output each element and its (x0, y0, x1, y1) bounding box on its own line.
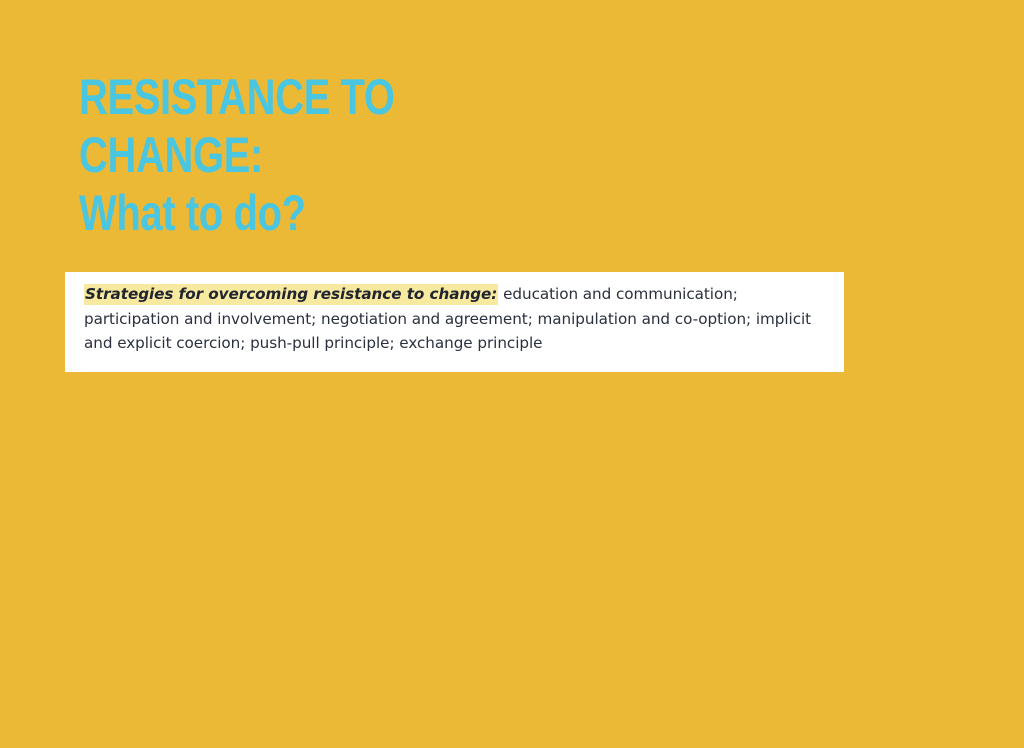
page-title-line-1: RESISTANCE TO (79, 68, 495, 126)
page-title-line-2: CHANGE: (79, 126, 495, 184)
slide-canvas: RESISTANCE TO CHANGE: What to do? Strate… (0, 0, 1024, 748)
excerpt-card: Strategies for overcoming resistance to … (65, 272, 844, 372)
highlighted-lead-text: Strategies for overcoming resistance to … (84, 284, 498, 305)
page-title-line-3: What to do? (79, 184, 495, 242)
excerpt-paragraph: Strategies for overcoming resistance to … (84, 282, 829, 356)
page-title: RESISTANCE TO CHANGE: What to do? (79, 68, 599, 242)
